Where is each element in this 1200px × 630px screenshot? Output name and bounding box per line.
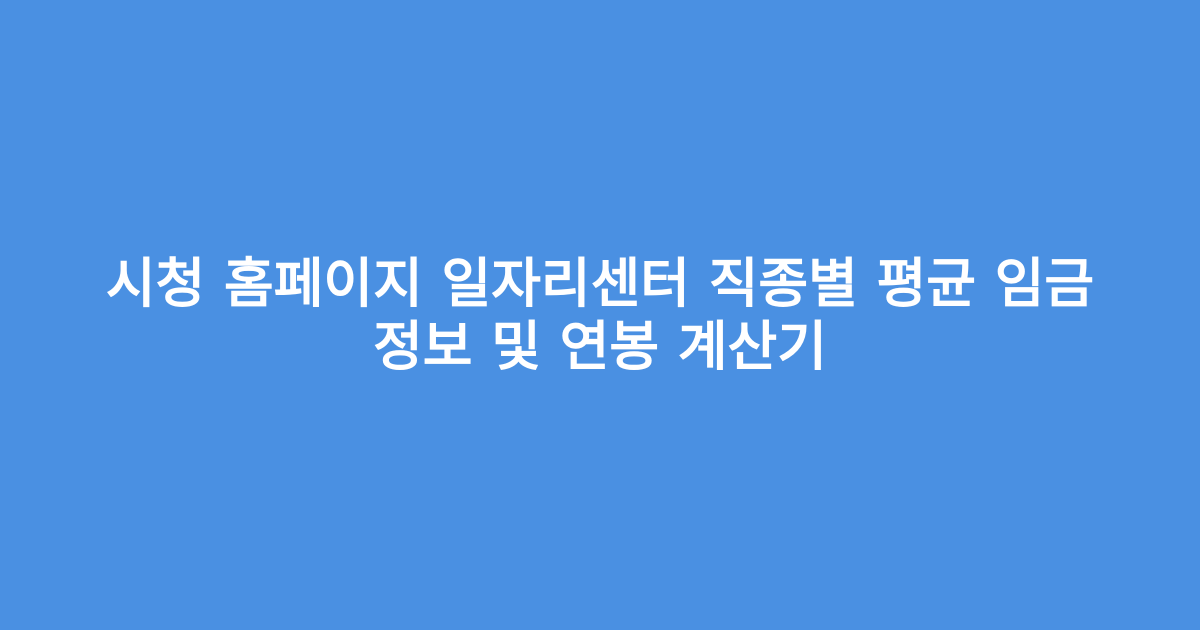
page-title: 시청 홈페이지 일자리센터 직종별 평균 임금 정보 및 연봉 계산기 <box>80 252 1120 378</box>
title-block: 시청 홈페이지 일자리센터 직종별 평균 임금 정보 및 연봉 계산기 <box>60 252 1140 378</box>
og-share-card: 시청 홈페이지 일자리센터 직종별 평균 임금 정보 및 연봉 계산기 <box>0 0 1200 630</box>
